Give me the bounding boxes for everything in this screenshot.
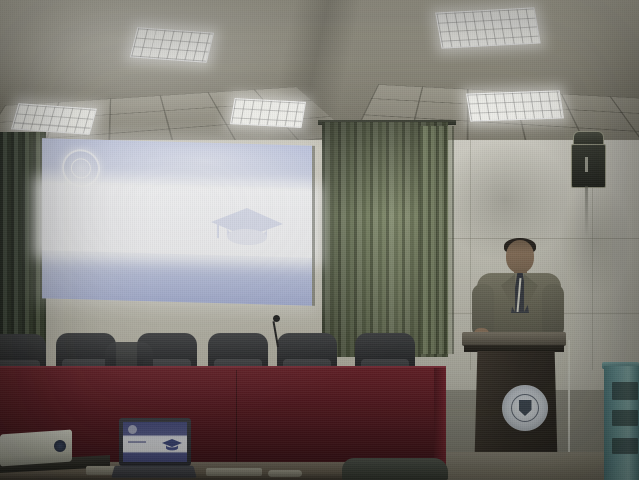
podium-lip [464,345,564,352]
wall-stain [560,185,630,295]
curtain-right-edge [420,126,454,354]
university-seal-icon [502,385,548,431]
ceiling [0,0,639,148]
bag [342,458,448,480]
desk-object-3 [268,470,302,477]
graduation-cap-icon [210,205,284,255]
projector-lens-icon [54,440,66,452]
university-seal-icon [128,425,137,434]
seal-inner-ring [511,394,539,422]
microphone-head [273,315,280,322]
curtain-left [0,132,46,348]
laptop-lid [119,418,191,466]
presenter-arm-right [542,284,564,338]
cabinet-slot-1 [612,382,638,400]
slide [42,138,312,306]
podium-top-surface [462,332,566,346]
podium-cable [568,340,570,460]
university-seal-icon [62,149,100,188]
seal-shield [519,400,532,416]
laptop-screen[interactable] [123,422,187,462]
ceiling-light-2 [435,7,540,48]
laptop-keyboard-base[interactable] [111,466,196,478]
ceiling-light-1 [130,27,214,62]
photo-scene [0,0,639,480]
cabinet-slot-2 [612,410,638,426]
cabinet [604,366,639,480]
microphone-stem [272,321,278,347]
laptop-slide-title [128,441,146,443]
cabinet-slot-3 [612,438,638,454]
graduation-cap-icon [162,439,182,452]
desk-object-2 [206,468,262,476]
projection-screen [42,138,312,306]
ceiling-light-3 [11,103,97,135]
microphone [270,315,286,345]
ceiling-shading [0,0,639,148]
laptop[interactable] [113,418,195,480]
wall-speaker-icon [571,144,606,188]
ceiling-light-4 [230,98,306,128]
ceiling-light-5 [466,90,564,121]
speaker-cable [585,186,588,238]
speaker-slot [585,157,588,172]
